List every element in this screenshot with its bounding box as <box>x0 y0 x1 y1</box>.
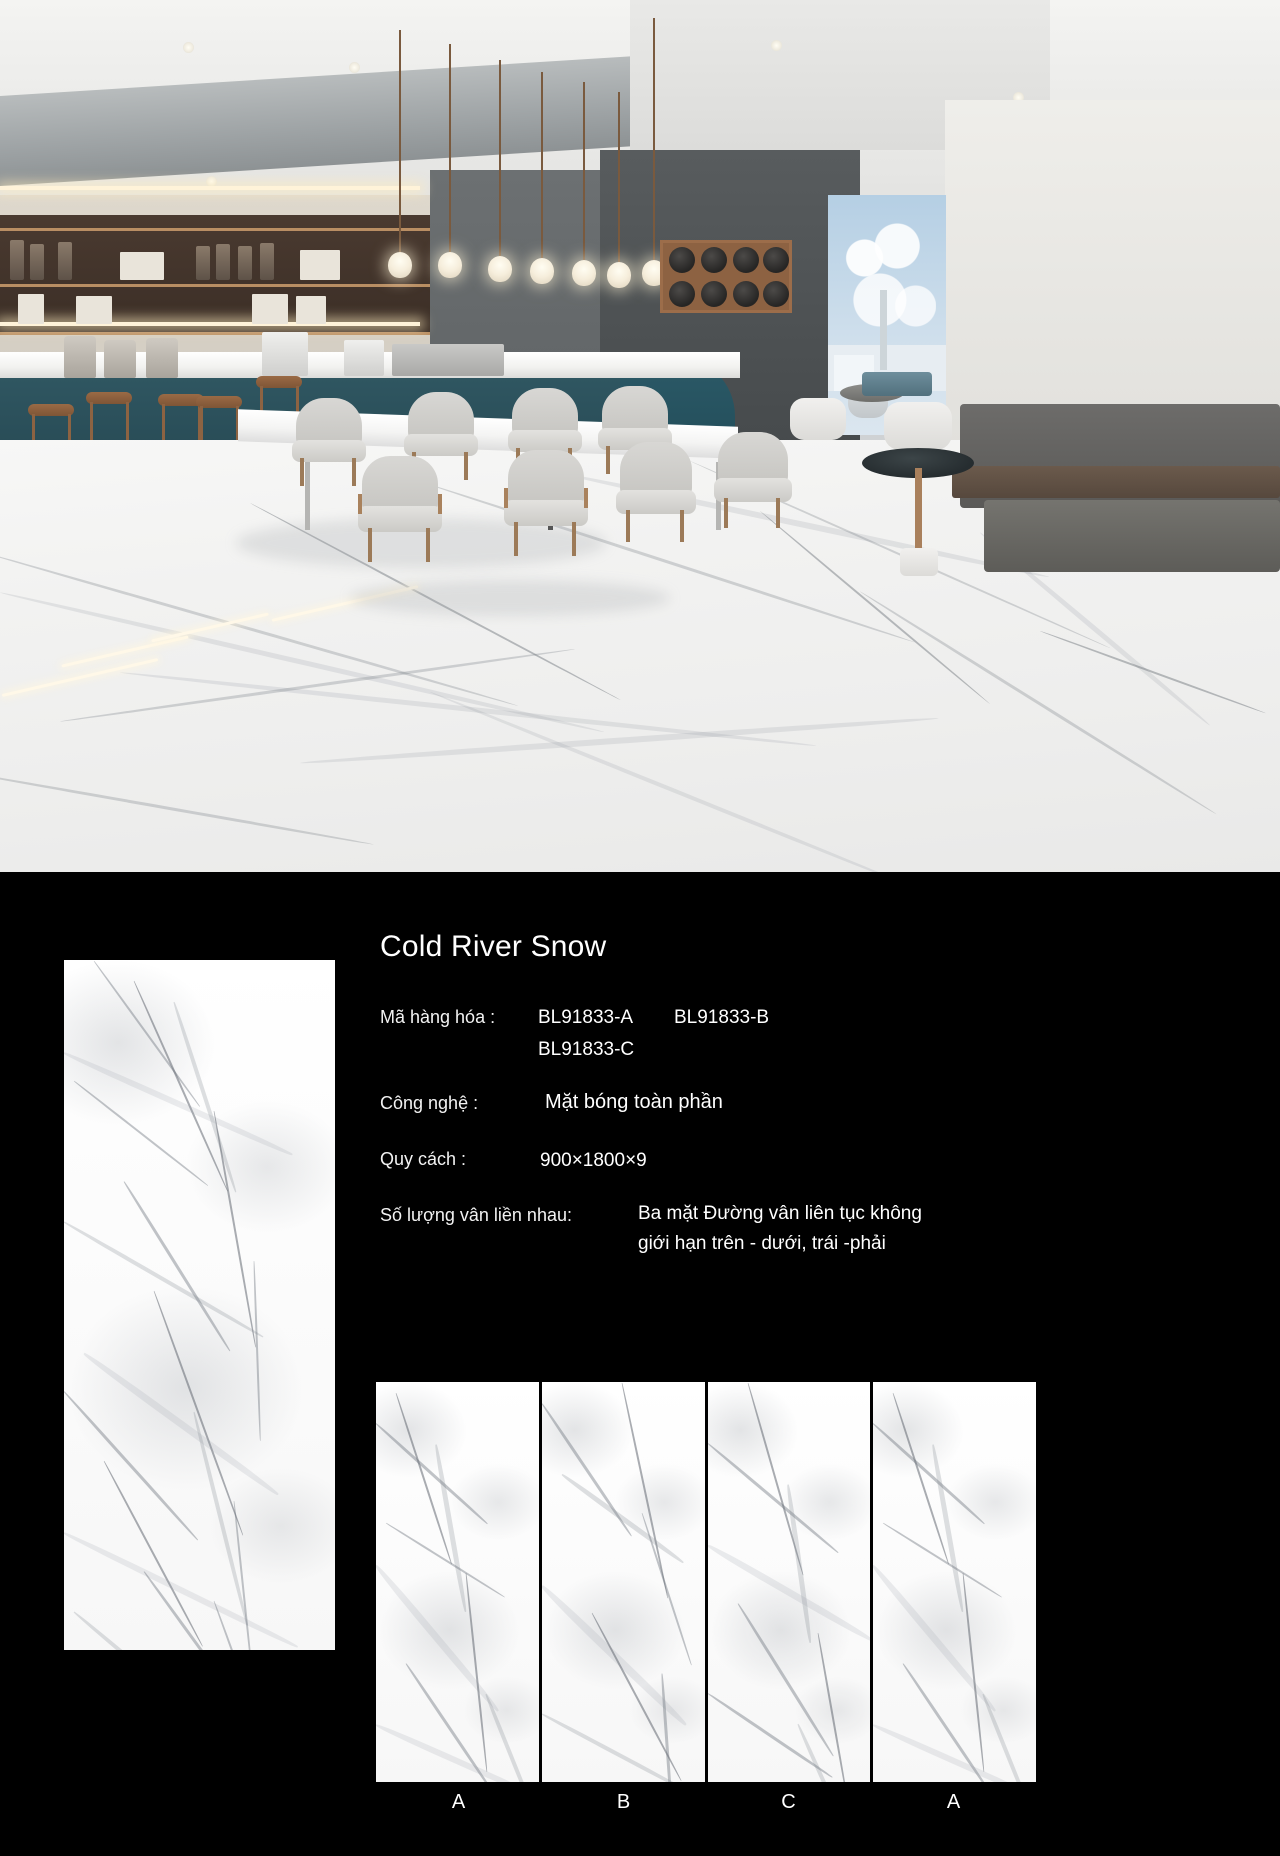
tree-trunk <box>880 290 887 370</box>
shelf-jar <box>30 244 44 280</box>
swatch-tile-a2[interactable] <box>873 1382 1036 1782</box>
dining-chair <box>358 456 442 556</box>
swatch-label-a2: A <box>871 1787 1036 1827</box>
shelf-box <box>252 294 288 324</box>
marble-texture <box>708 1382 871 1782</box>
chair-leg <box>626 510 630 542</box>
spec-value-technology: Mặt bóng toàn phần <box>545 1091 723 1114</box>
floor-vein <box>0 550 519 707</box>
dining-chair <box>616 442 696 538</box>
dining-chair <box>504 450 588 550</box>
pouf-ottoman <box>790 398 846 440</box>
chair-leg <box>724 498 728 528</box>
chair-leg <box>776 498 780 528</box>
floor-vein <box>1040 630 1266 714</box>
pendant-cord <box>399 30 401 252</box>
pendant-lamp <box>530 258 554 284</box>
shelf-light-strip <box>0 186 420 190</box>
downlight-icon <box>349 62 360 73</box>
pouf-ottoman <box>884 402 952 450</box>
chair-leg <box>572 522 576 556</box>
pendant-cord <box>541 72 543 258</box>
shelf-box <box>76 296 112 324</box>
coffee-table-stem <box>915 468 922 554</box>
swatch-label-c: C <box>706 1787 871 1827</box>
shelf-jar <box>196 246 210 280</box>
spec-label-pattern: Số lượng vân liền nhau: <box>380 1205 572 1226</box>
counter-canister <box>64 336 96 378</box>
pendant-cord <box>583 82 585 260</box>
furniture-shadow <box>350 580 670 616</box>
pendant-lamp <box>438 252 462 278</box>
chair-leg <box>606 446 610 474</box>
shelf-light-strip <box>0 322 420 326</box>
chair-leg <box>426 528 430 562</box>
spec-label-code: Mã hàng hóa : <box>380 1007 495 1028</box>
swatch-label-a: A <box>376 1787 541 1827</box>
chair-arm <box>504 488 508 508</box>
chair-arm <box>358 494 362 514</box>
wall-art-disc <box>669 247 695 273</box>
shelf-box <box>18 294 44 324</box>
shelf-jar <box>238 246 252 280</box>
counter-canister <box>146 338 178 378</box>
chair-leg <box>368 528 372 562</box>
dining-chair <box>292 398 366 484</box>
shelf-jar <box>260 243 274 280</box>
shelf-box <box>120 252 164 280</box>
chair-arm <box>584 488 588 508</box>
floor-vein <box>0 770 374 846</box>
shelf-ledge <box>0 284 430 287</box>
pendant-lamp <box>572 260 596 286</box>
chair-leg <box>514 522 518 556</box>
floor-reflection <box>2 658 159 697</box>
shelf-box <box>296 296 326 324</box>
pendant-cord <box>449 44 451 252</box>
shelf-jar <box>216 244 230 280</box>
shelf-ledge <box>0 228 430 231</box>
wall-art-disc <box>763 247 789 273</box>
spec-value-code-b: BL91833-B <box>674 1007 769 1029</box>
hero-interior-photo <box>0 0 1280 872</box>
product-title: Cold River Snow <box>380 930 606 964</box>
shelf-box <box>300 250 340 280</box>
wall-art-disc <box>733 247 759 273</box>
chair-arm <box>438 494 442 514</box>
spec-value-code-c: BL91833-C <box>538 1039 634 1061</box>
sofa-seat <box>952 466 1280 498</box>
floor-reflection <box>61 635 188 667</box>
hero-scene <box>0 0 1280 872</box>
floor-vein <box>859 590 1217 815</box>
counter-equipment <box>392 344 504 376</box>
shelf-jar <box>10 240 24 280</box>
pendant-lamp <box>607 262 631 288</box>
downlight-icon <box>771 40 782 51</box>
swatch-tile-c[interactable] <box>708 1382 874 1782</box>
shelf-jar <box>58 242 72 280</box>
pendant-cord <box>618 92 620 262</box>
spec-value-pattern-line2: giới hạn trên - dưới, trái -phải <box>638 1233 886 1255</box>
chair-leg <box>464 452 468 480</box>
swatch-tile-b[interactable] <box>542 1382 708 1782</box>
pendant-cord <box>499 60 501 256</box>
product-tile-image-large <box>64 960 335 1650</box>
swatch-grid <box>376 1382 1036 1782</box>
wall-art-disc <box>701 281 727 307</box>
swatch-labels: A B C A <box>376 1787 1036 1827</box>
chair-leg <box>352 458 356 486</box>
wall-art-disc <box>733 281 759 307</box>
pendant-lamp <box>388 252 412 278</box>
coffee-machine <box>262 332 308 376</box>
floor-vein <box>429 690 913 872</box>
window-bench <box>862 372 932 396</box>
wall-art-disc <box>701 247 727 273</box>
spec-value-size: 900×1800×9 <box>540 1150 647 1172</box>
wall-art-disc <box>763 281 789 307</box>
spec-label-technology: Công nghệ : <box>380 1093 478 1114</box>
swatch-tile-a[interactable] <box>376 1382 542 1782</box>
coffee-machine <box>344 340 384 376</box>
product-catalog-page: Cold River Snow Mã hàng hóa : BL91833-A … <box>0 0 1280 1856</box>
chair-leg <box>300 458 304 486</box>
spec-value-code-a: BL91833-A <box>538 1007 633 1029</box>
product-info-panel: Cold River Snow Mã hàng hóa : BL91833-A … <box>0 872 1280 1856</box>
dining-chair <box>714 432 792 526</box>
pendant-lamp <box>488 256 512 282</box>
table-base <box>900 548 938 576</box>
shelf-ledge <box>0 332 430 335</box>
spec-label-size: Quy cách : <box>380 1149 466 1170</box>
pendant-cord <box>653 18 655 260</box>
wall-art-frame <box>660 240 792 313</box>
downlight-icon <box>183 42 194 53</box>
wall-art-disc <box>669 281 695 307</box>
swatch-label-b: B <box>541 1787 706 1827</box>
spec-value-pattern-line1: Ba mặt Đường vân liên tục không <box>638 1203 922 1225</box>
chair-leg <box>680 510 684 542</box>
lounge-sofa <box>984 500 1280 572</box>
counter-canister <box>104 340 136 378</box>
